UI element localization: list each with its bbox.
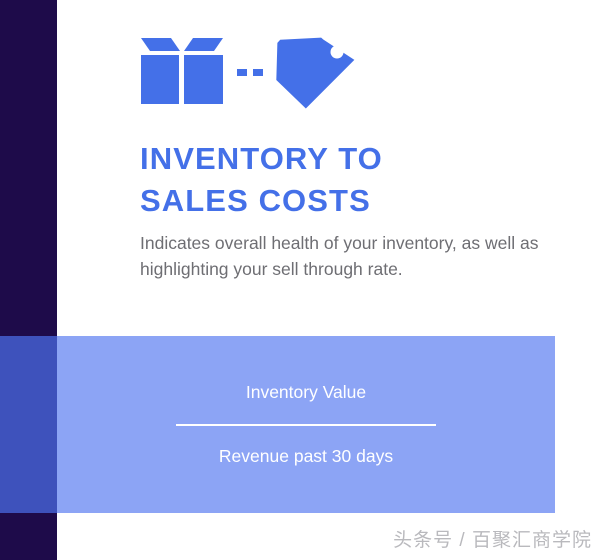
formula-block: Inventory Value Revenue past 30 days bbox=[57, 336, 555, 513]
page-title: Inventory to Sales Costs bbox=[140, 138, 560, 222]
icon-row bbox=[141, 36, 361, 112]
ellipsis-dots-icon bbox=[237, 69, 263, 76]
formula-division-rule bbox=[176, 424, 436, 426]
open-box-icon bbox=[141, 38, 223, 104]
card-description: Indicates overall health of your invento… bbox=[140, 230, 550, 282]
infographic-card: Inventory to Sales Costs Indicates overa… bbox=[0, 0, 604, 560]
formula-numerator: Inventory Value bbox=[246, 382, 366, 403]
formula-denominator: Revenue past 30 days bbox=[219, 446, 393, 467]
price-tag-icon bbox=[274, 36, 357, 110]
page-title-line-1: Inventory to bbox=[140, 138, 560, 180]
formula-band-navy-overlap bbox=[0, 336, 57, 513]
watermark: 头条号 / 百聚汇商学院 bbox=[393, 525, 592, 552]
page-title-line-2: Sales Costs bbox=[140, 180, 560, 222]
